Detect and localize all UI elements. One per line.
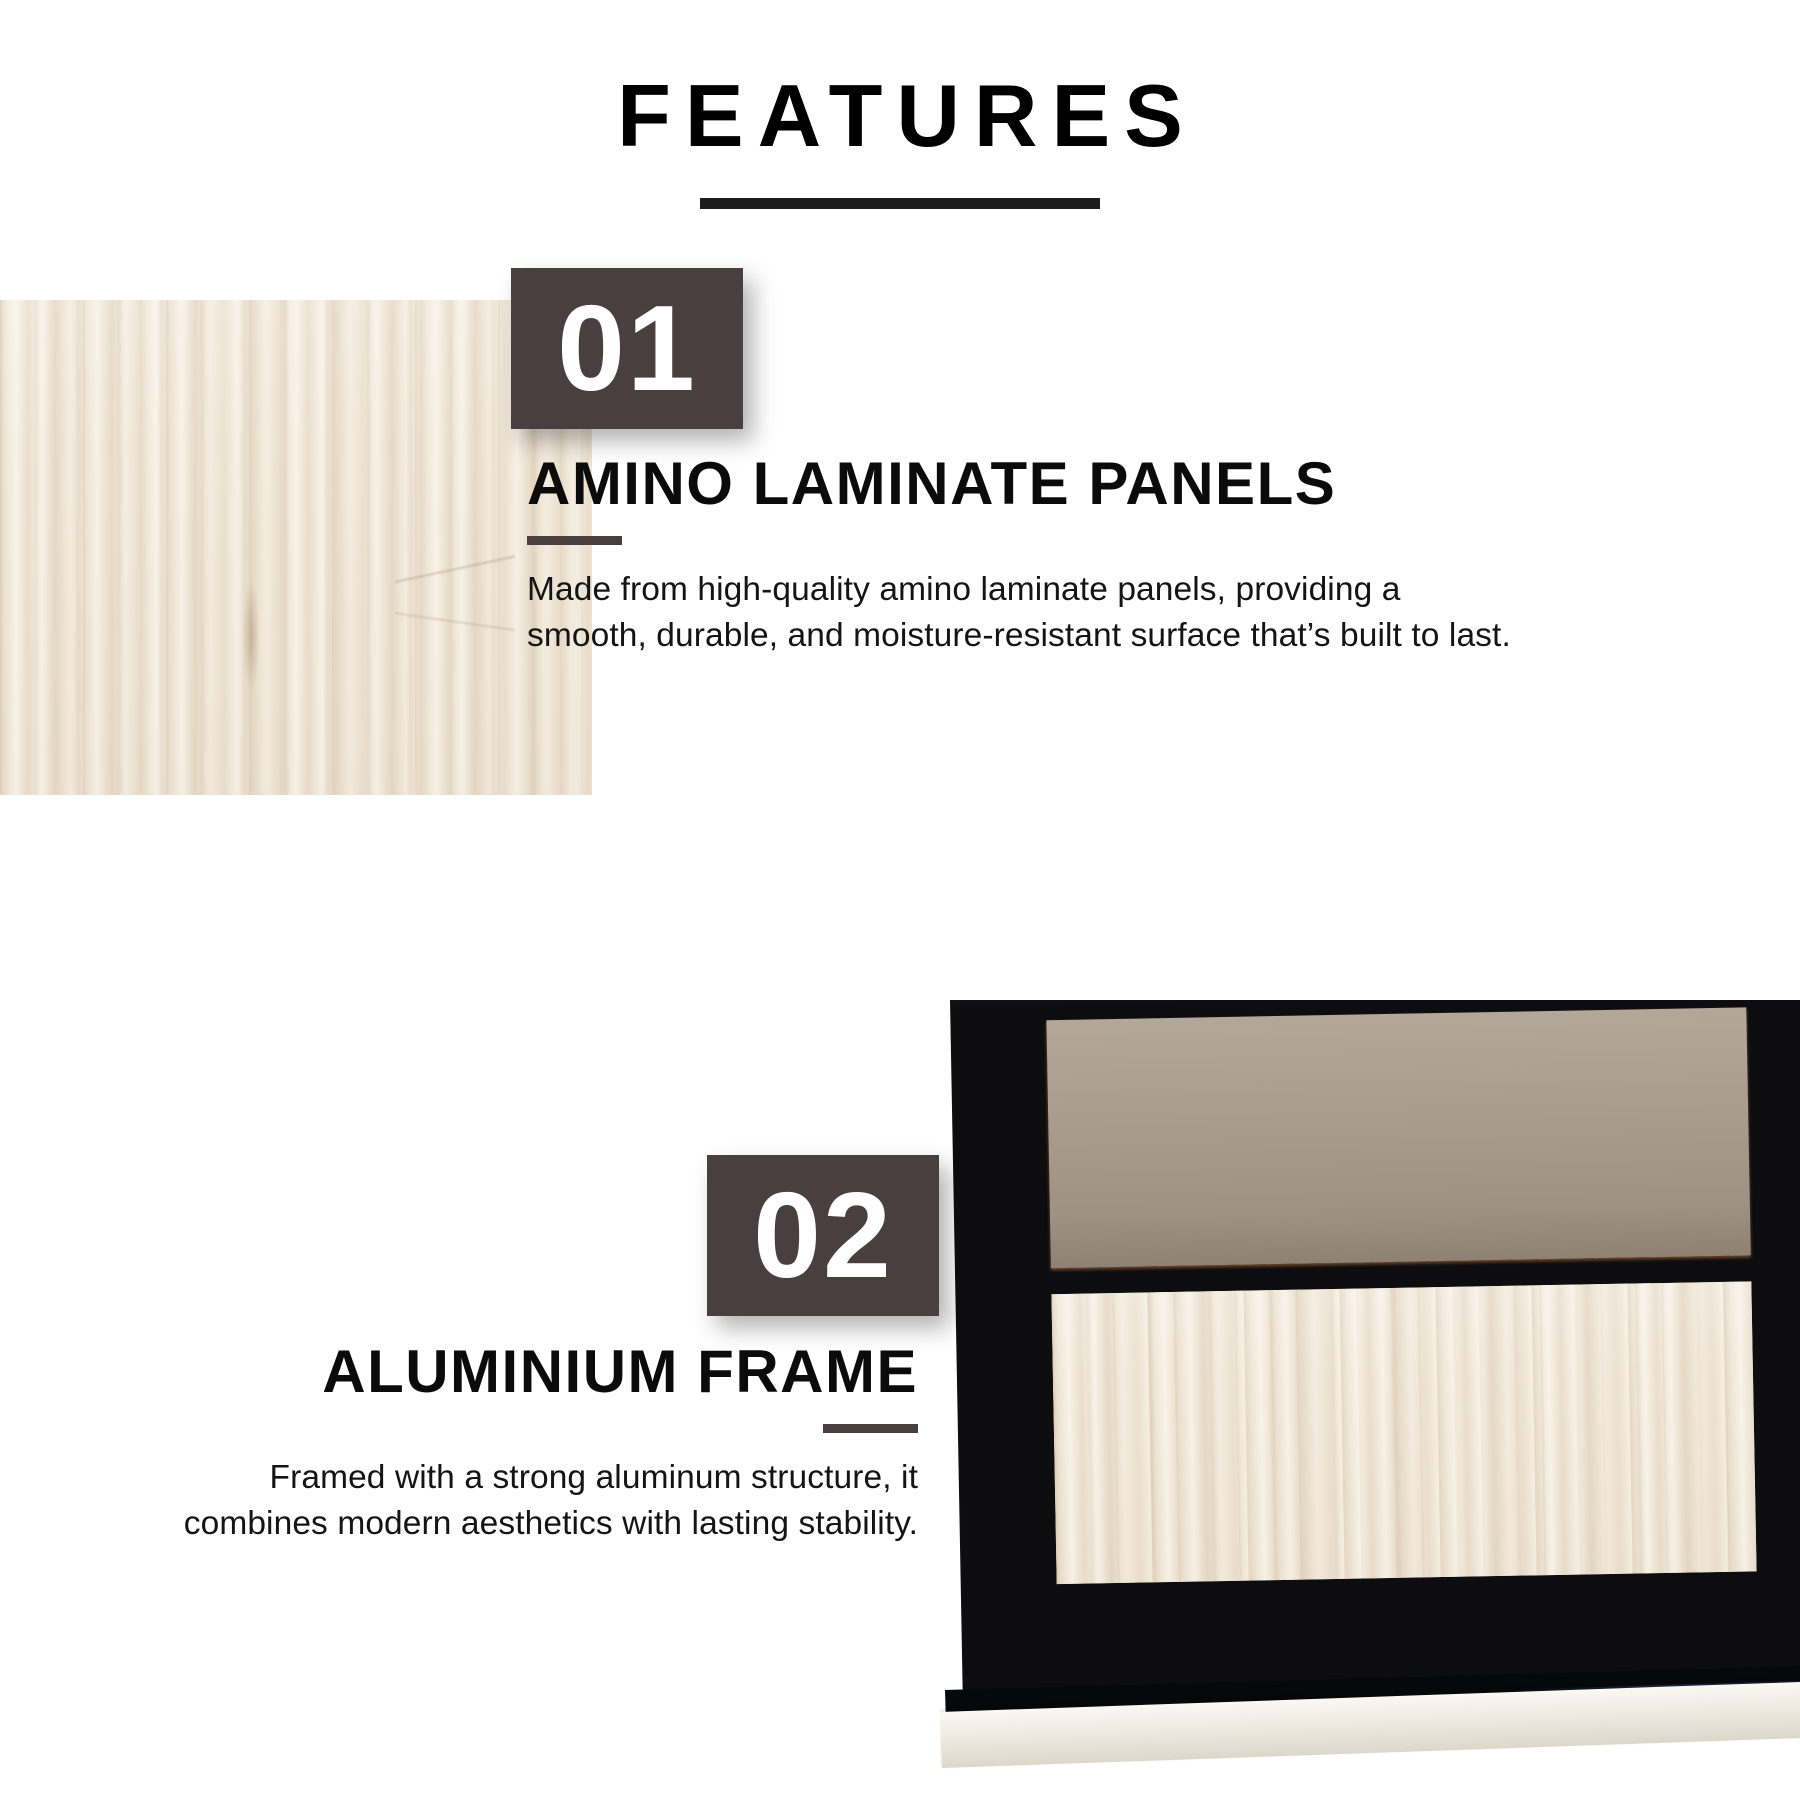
cabinet-frame	[950, 1000, 1800, 1720]
cabinet-glass-panel	[1046, 1007, 1750, 1268]
feature-02-heading: ALUMINIUM FRAME	[128, 1340, 918, 1405]
wood-knot	[243, 582, 259, 690]
feature-02-body: Framed with a strong aluminum structure,…	[128, 1433, 918, 1547]
feature-01-photo	[0, 300, 592, 795]
title-underline-rule	[700, 198, 1100, 209]
feature-01-heading-rule	[527, 536, 622, 545]
cabinet-wood-panel	[1051, 1281, 1756, 1584]
feature-number-badge-01: 01	[511, 268, 743, 429]
feature-01-body: Made from high-quality amino laminate pa…	[527, 545, 1527, 659]
cabinet-wood-grain-texture	[1051, 1281, 1756, 1584]
feature-02-heading-rule	[823, 1424, 918, 1433]
page-header: FEATURES	[0, 0, 1800, 209]
wood-grain-arc	[395, 360, 515, 780]
feature-01-heading: AMINO LAMINATE PANELS	[527, 452, 1527, 517]
feature-02-photo	[940, 1000, 1800, 1800]
feature-02-text-block: ALUMINIUM FRAME Framed with a strong alu…	[128, 1340, 918, 1547]
feature-number-badge-02: 02	[707, 1155, 939, 1316]
feature-01-text-block: AMINO LAMINATE PANELS Made from high-qua…	[527, 452, 1527, 659]
page-title: FEATURES	[0, 0, 1800, 160]
